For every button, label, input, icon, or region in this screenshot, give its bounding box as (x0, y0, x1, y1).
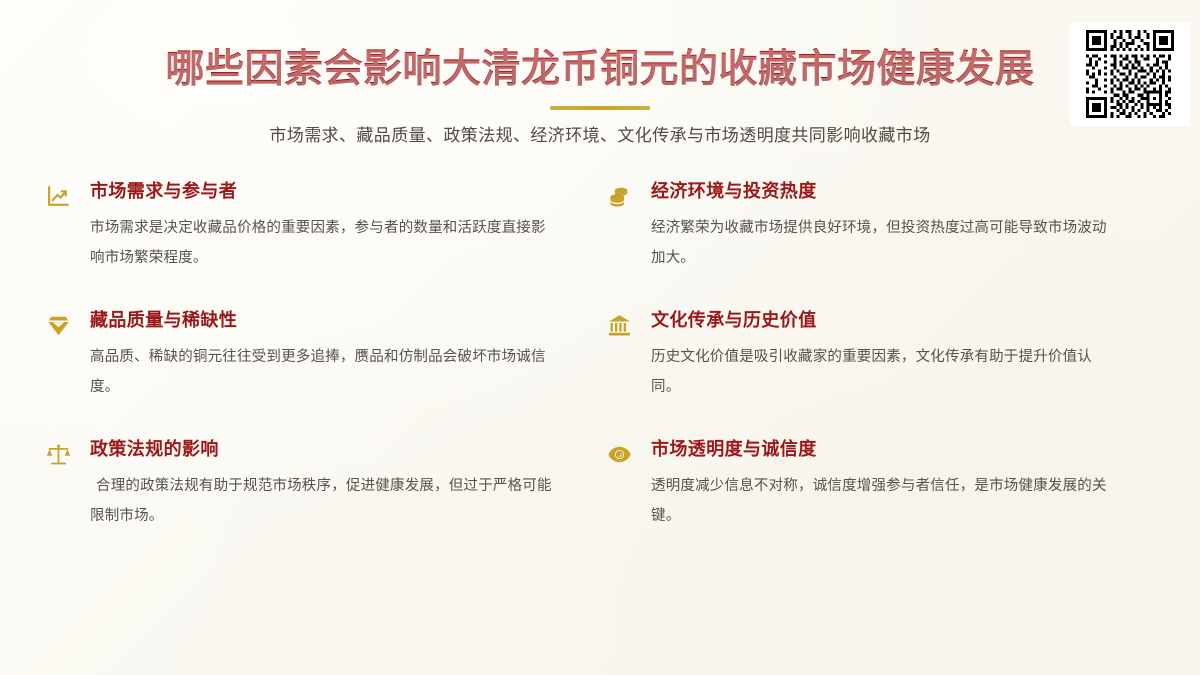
feature-description: 透明度减少信息不对称，诚信度增强参与者信任，是市场健康发展的关键。 (651, 471, 1121, 531)
feature-body: 政策法规的影响 合理的政策法规有助于规范市场秩序，促进健康发展，但过于严格可能限… (90, 436, 595, 531)
qr-code-container[interactable] (1070, 22, 1190, 126)
feature-item-quality-rarity[interactable]: 藏品质量与稀缺性 高品质、稀缺的铜元往往受到更多追捧，赝品和仿制品会破坏市场诚信… (46, 307, 595, 402)
feature-item-market-demand[interactable]: 市场需求与参与者 市场需求是决定收藏品价格的重要因素，参与者的数量和活跃度直接影… (46, 178, 595, 273)
slide-root: 哪些因素会影响大清龙币铜元的收藏市场健康发展 市场需求、藏品质量、政策法规、经济… (0, 0, 1200, 675)
feature-body: 市场透明度与诚信度 透明度减少信息不对称，诚信度增强参与者信任，是市场健康发展的… (651, 436, 1156, 531)
feature-item-economy-investment[interactable]: 经济环境与投资热度 经济繁荣为收藏市场提供良好环境，但投资热度过高可能导致市场波… (607, 178, 1156, 273)
feature-description: 高品质、稀缺的铜元往往受到更多追捧，赝品和仿制品会破坏市场诚信度。 (90, 342, 560, 402)
feature-description: 合理的政策法规有助于规范市场秩序，促进健康发展，但过于严格可能限制市场。 (90, 471, 560, 531)
feature-title: 市场需求与参与者 (90, 178, 595, 204)
scales-icon (46, 436, 90, 470)
feature-body: 市场需求与参与者 市场需求是决定收藏品价格的重要因素，参与者的数量和活跃度直接影… (90, 178, 595, 273)
feature-item-transparency-integrity[interactable]: 市场透明度与诚信度 透明度减少信息不对称，诚信度增强参与者信任，是市场健康发展的… (607, 436, 1156, 531)
title-underline-rule (550, 106, 650, 110)
slide-header: 哪些因素会影响大清龙币铜元的收藏市场健康发展 市场需求、藏品质量、政策法规、经济… (0, 44, 1200, 149)
page-subtitle: 市场需求、藏品质量、政策法规、经济环境、文化传承与市场透明度共同影响收藏市场 (0, 123, 1200, 149)
features-grid: 市场需求与参与者 市场需求是决定收藏品价格的重要因素，参与者的数量和活跃度直接影… (0, 178, 1200, 531)
gem-icon (46, 307, 90, 341)
feature-description: 经济繁荣为收藏市场提供良好环境，但投资热度过高可能导致市场波动加大。 (651, 213, 1121, 273)
features-column-left: 市场需求与参与者 市场需求是决定收藏品价格的重要因素，参与者的数量和活跃度直接影… (46, 178, 595, 531)
feature-title: 文化传承与历史价值 (651, 307, 1156, 333)
eye-icon (607, 436, 651, 470)
feature-item-culture-history[interactable]: 文化传承与历史价值 历史文化价值是吸引收藏家的重要因素，文化传承有助于提升价值认… (607, 307, 1156, 402)
feature-item-policy-regulation[interactable]: 政策法规的影响 合理的政策法规有助于规范市场秩序，促进健康发展，但过于严格可能限… (46, 436, 595, 531)
bank-icon (607, 307, 651, 341)
page-title: 哪些因素会影响大清龙币铜元的收藏市场健康发展 (0, 44, 1200, 96)
feature-title: 市场透明度与诚信度 (651, 436, 1156, 462)
feature-title: 藏品质量与稀缺性 (90, 307, 595, 333)
feature-body: 文化传承与历史价值 历史文化价值是吸引收藏家的重要因素，文化传承有助于提升价值认… (651, 307, 1156, 402)
feature-description: 市场需求是决定收藏品价格的重要因素，参与者的数量和活跃度直接影响市场繁荣程度。 (90, 213, 560, 273)
feature-body: 经济环境与投资热度 经济繁荣为收藏市场提供良好环境，但投资热度过高可能导致市场波… (651, 178, 1156, 273)
coins-icon (607, 178, 651, 212)
line-chart-icon (46, 178, 90, 212)
feature-title: 经济环境与投资热度 (651, 178, 1156, 204)
qr-code-icon (1086, 30, 1174, 118)
feature-body: 藏品质量与稀缺性 高品质、稀缺的铜元往往受到更多追捧，赝品和仿制品会破坏市场诚信… (90, 307, 595, 402)
feature-title: 政策法规的影响 (90, 436, 595, 462)
feature-description: 历史文化价值是吸引收藏家的重要因素，文化传承有助于提升价值认同。 (651, 342, 1121, 402)
features-column-right: 经济环境与投资热度 经济繁荣为收藏市场提供良好环境，但投资热度过高可能导致市场波… (607, 178, 1156, 531)
